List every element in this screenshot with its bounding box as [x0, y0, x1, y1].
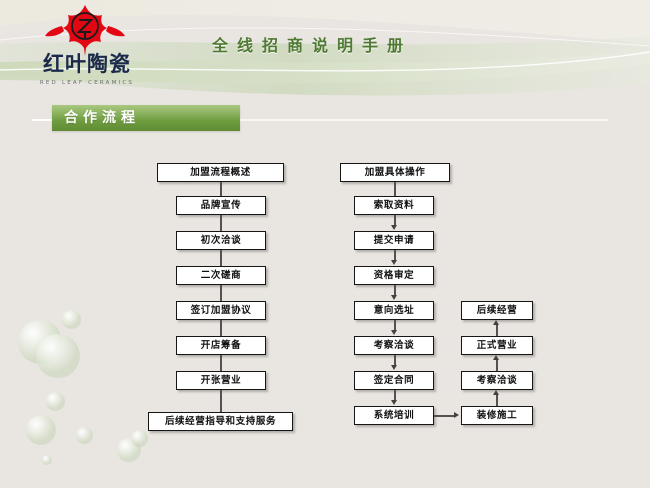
arrow-head-icon: [391, 295, 397, 300]
flow-node[interactable]: 提交申请: [354, 231, 434, 250]
arrow-head-icon: [391, 260, 397, 265]
flow-node[interactable]: 正式营业: [461, 336, 533, 355]
flowchart: 加盟流程概述 品牌宣传 初次洽谈 二次磋商 签订加盟协议 开店筹备 开张营业 后…: [0, 0, 650, 488]
flow-node[interactable]: 开张营业: [176, 371, 266, 390]
flow-node[interactable]: 考察洽谈: [354, 336, 434, 355]
flow-node[interactable]: 初次洽谈: [176, 231, 266, 250]
flow-connector: [220, 250, 222, 266]
flow-connector: [220, 285, 222, 301]
flow-connector: [496, 360, 498, 371]
flow-node[interactable]: 签订加盟协议: [176, 301, 266, 320]
arrow-head-icon: [493, 320, 499, 325]
flow-node[interactable]: 加盟流程概述: [157, 163, 284, 182]
flow-node[interactable]: 考察洽谈: [461, 371, 533, 390]
flow-connector: [220, 320, 222, 336]
flow-connector: [496, 325, 498, 336]
flow-connector: [220, 215, 222, 231]
flow-node[interactable]: 开店筹备: [176, 336, 266, 355]
flow-node[interactable]: 品牌宣传: [176, 196, 266, 215]
flow-node[interactable]: 二次磋商: [176, 266, 266, 285]
flow-connector: [434, 415, 455, 417]
flow-node[interactable]: 签定合同: [354, 371, 434, 390]
flow-connector: [220, 355, 222, 371]
arrow-head-icon: [391, 400, 397, 405]
arrow-head-icon: [493, 390, 499, 395]
flow-connector: [220, 390, 222, 412]
flow-node[interactable]: 系统培训: [354, 406, 434, 425]
flow-node[interactable]: 意向选址: [354, 301, 434, 320]
flow-connector: [220, 182, 222, 196]
flow-node[interactable]: 加盟具体操作: [340, 163, 450, 182]
flow-node[interactable]: 后续经营: [461, 301, 533, 320]
flow-node[interactable]: 资格审定: [354, 266, 434, 285]
slide-canvas: 红叶陶瓷 RED LEAF CERAMICS 全线招商说明手册 合作流程 加盟流…: [0, 0, 650, 488]
flow-connector: [394, 182, 396, 196]
arrow-head-icon: [454, 412, 459, 418]
flow-node[interactable]: 后续经营指导和支持服务: [148, 412, 293, 431]
flow-node[interactable]: 装修施工: [461, 406, 533, 425]
arrow-head-icon: [391, 365, 397, 370]
flow-connector: [496, 395, 498, 406]
flow-node[interactable]: 索取资料: [354, 196, 434, 215]
arrow-head-icon: [391, 225, 397, 230]
arrow-head-icon: [391, 330, 397, 335]
arrow-head-icon: [493, 355, 499, 360]
